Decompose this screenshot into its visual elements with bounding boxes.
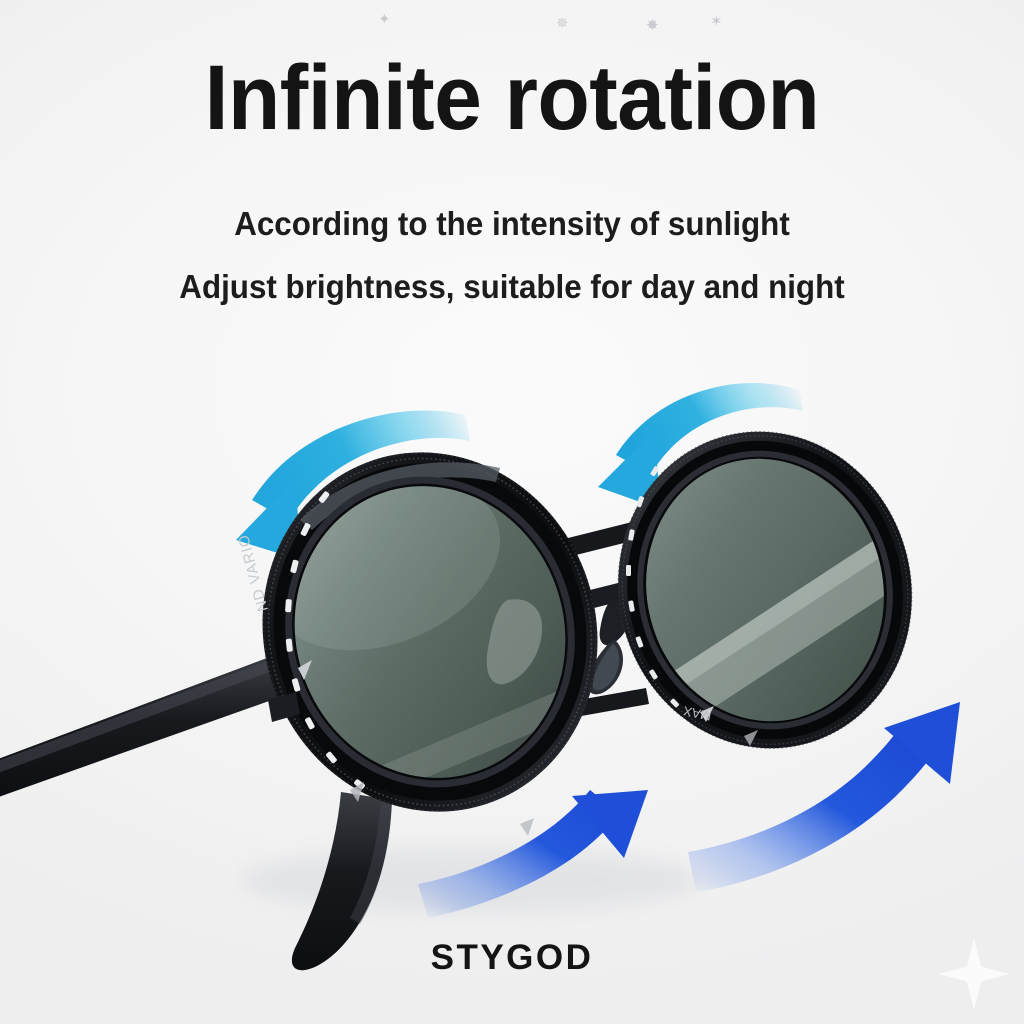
sparkle-mark-4: ✶ <box>710 14 723 29</box>
poster-canvas: MAX <box>0 0 1024 1024</box>
page-title: Infinite rotation <box>36 52 988 144</box>
subtitle-line-2: Adjust brightness, suitable for day and … <box>26 268 999 306</box>
subtitle-line-1: According to the intensity of sunlight <box>26 205 999 243</box>
sparkle-mark-2: ✵ <box>556 16 569 31</box>
sparkle-mark-3: ✸ <box>646 18 659 33</box>
brand-wordmark: STYGOD <box>0 938 1024 978</box>
sparkle-mark-1: ✦ <box>378 12 391 27</box>
decoration-layer: ✦ ✵ ✸ ✶ <box>0 0 1024 1024</box>
